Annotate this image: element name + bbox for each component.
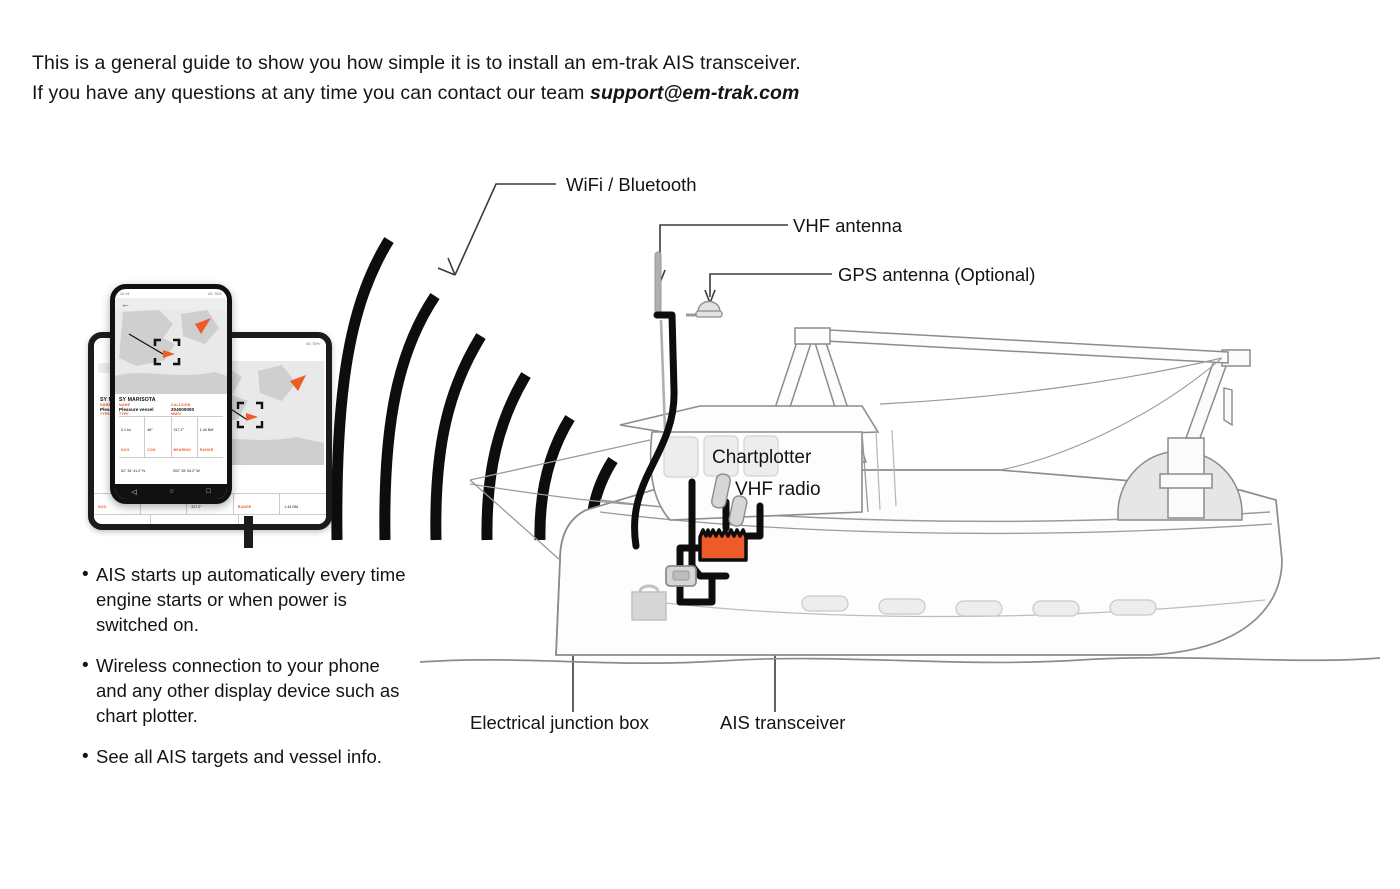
window — [664, 437, 698, 477]
label-vhf-radio: VHF radio — [735, 479, 821, 501]
wireless-signal-arcs — [337, 240, 613, 540]
sog-label: SOG — [121, 448, 129, 452]
tablet-lat-label: LAT — [155, 526, 162, 530]
range-label: RANGE — [200, 448, 214, 452]
tablet-sog-label: SOG — [98, 505, 106, 509]
porthole — [956, 601, 1002, 616]
phone-device[interactable]: 10:41 4G 76% ← — [110, 284, 232, 504]
porthole — [879, 599, 925, 614]
mast — [661, 320, 665, 430]
table-row: TYPE MMSI — [119, 412, 223, 416]
tablet-lon-value: 002° 26' 54.2" W — [255, 526, 282, 530]
back-arrow-icon[interactable]: ← — [121, 300, 130, 309]
device-mockups: 4G 76% — [84, 284, 334, 542]
tablet-status-left — [100, 342, 101, 346]
tablet-cog-value: 317.2° — [191, 505, 201, 509]
nav-recents-icon[interactable]: □ — [206, 488, 210, 495]
label-chartplotter: Chartplotter — [712, 447, 811, 469]
label-vhf-antenna: VHF antenna — [793, 215, 902, 237]
tablet-status-right: 4G 76% — [306, 342, 320, 346]
phone-nav-bar: ◁ ○ □ — [115, 484, 227, 499]
fishing-boat — [420, 252, 1380, 663]
tablet-stand — [244, 516, 253, 548]
porthole — [1110, 600, 1156, 615]
porthole — [1033, 601, 1079, 616]
nav-home-icon[interactable]: ○ — [169, 488, 173, 495]
type-label: TYPE — [119, 412, 171, 416]
diagram-canvas: This is a general guide to show you how … — [0, 0, 1400, 889]
phone-map-view[interactable] — [115, 310, 227, 394]
bearing-label: BEARING — [174, 448, 192, 452]
label-ais-transceiver: AIS transceiver — [720, 712, 845, 734]
tablet-range-label: RANGE — [238, 505, 252, 509]
waterline — [420, 658, 1380, 663]
sog-value: 0.1 kn — [121, 428, 131, 432]
phone-status-bar: 10:41 4G 76% — [115, 289, 227, 298]
table-row: SOG COG BEARING RANGE — [119, 437, 223, 457]
cog-value: 46° — [147, 428, 152, 432]
battery-icon — [632, 592, 666, 620]
label-wifi-bluetooth: WiFi / Bluetooth — [566, 174, 697, 196]
range-value: 1.44 NM — [200, 428, 214, 432]
porthole — [802, 596, 848, 611]
label-gps-antenna: GPS antenna (Optional) — [838, 264, 1035, 286]
lon-value: 002° 26' 54.2" W — [173, 469, 200, 473]
ais-transceiver-unit — [700, 530, 746, 560]
tablet-lat-value: 51° 34' 41.2" N — [166, 526, 190, 530]
phone-app-bar: ← — [115, 298, 227, 310]
table-row: LAT 51° 34' 41.2" N LON 002° 26' 54.2" W — [94, 514, 326, 530]
tablet-range-value: 1.44 NM — [284, 505, 298, 509]
bearing-value: 317.2° — [174, 428, 184, 432]
phone-map-svg — [115, 310, 227, 394]
lat-value: 51° 34' 41.2" N — [121, 469, 145, 473]
phone-status-time: 10:41 — [120, 292, 130, 296]
cog-label: COG — [147, 448, 156, 452]
phone-status-indicators: 4G 76% — [208, 292, 222, 296]
label-electrical-junction-box: Electrical junction box — [470, 712, 649, 734]
table-row: 0.1 kn 46° 317.2° 1.44 NM — [119, 416, 223, 437]
mmsi-label: MMSI — [171, 412, 223, 416]
landmass — [115, 372, 227, 394]
boom-spar — [826, 330, 1228, 363]
vhf-antenna-icon — [655, 252, 661, 314]
phone-vessel-info-panel: SY MARISOTA NAME CALLSIGN Pleasure vesse… — [115, 394, 227, 498]
table-row: 51° 34' 41.2" N 002° 26' 54.2" W — [119, 457, 223, 478]
nav-back-icon[interactable]: ◁ — [131, 488, 136, 496]
